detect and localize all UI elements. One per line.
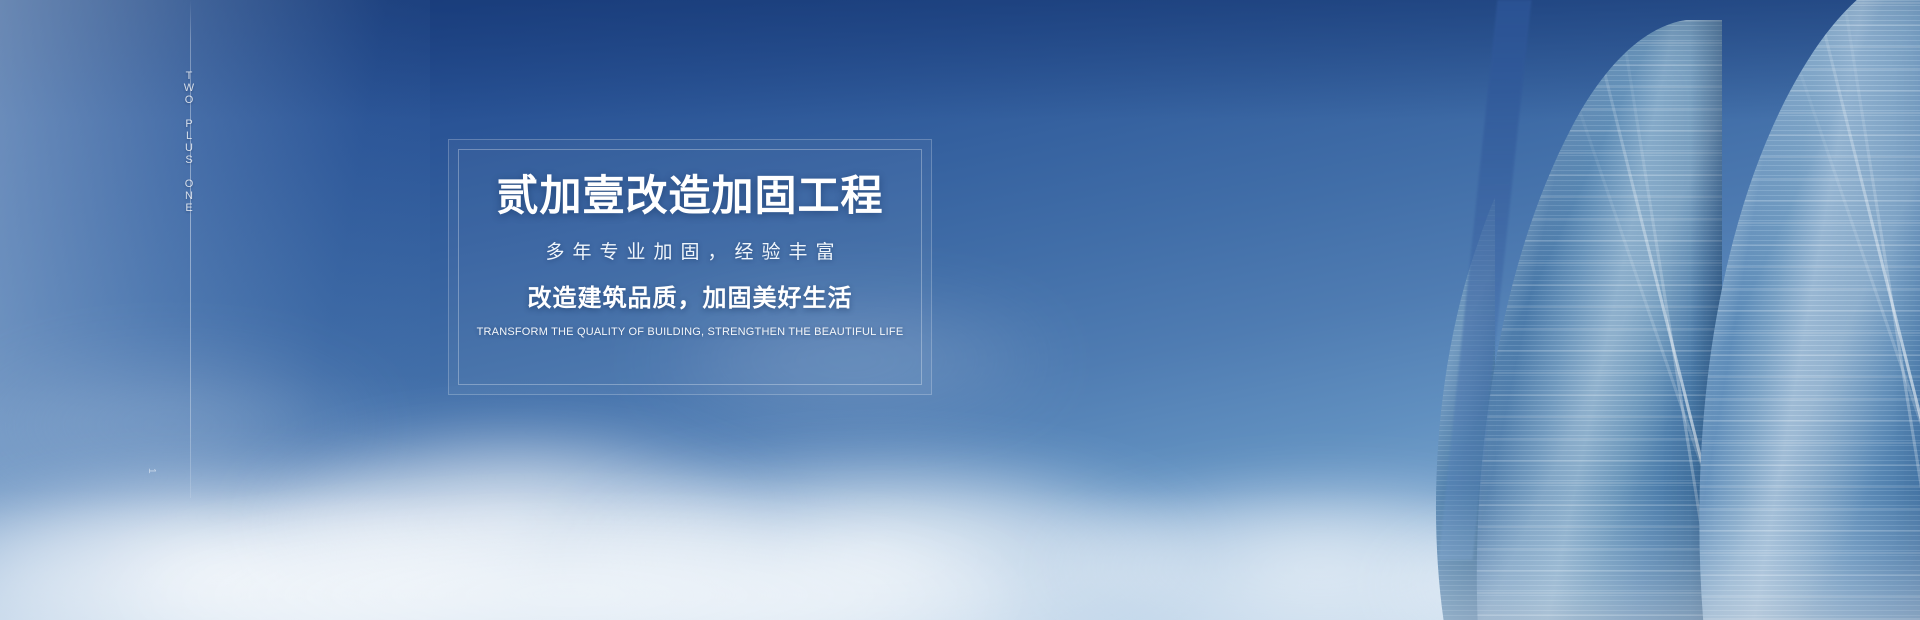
page-subtitle: 多年专业加固，经验丰富 xyxy=(537,243,842,262)
hero-banner: TWO PLUS ONE 1 贰加壹改造加固工程 多年专业加固，经验丰富 改造建… xyxy=(0,0,1920,620)
page-title: 贰加壹改造加固工程 xyxy=(496,175,883,217)
banner-copy-block: 贰加壹改造加固工程 多年专业加固，经验丰富 改造建筑品质，加固美好生活 TRAN… xyxy=(448,139,932,395)
vertical-brand-label: TWO PLUS ONE xyxy=(183,70,199,214)
page-slogan-english: TRANSFORM THE QUALITY OF BUILDING, STREN… xyxy=(477,327,904,338)
skyscrapers-photo xyxy=(1160,0,1920,620)
page-slogan: 改造建筑品质，加固美好生活 xyxy=(528,287,853,311)
vertical-page-mark: 1 xyxy=(146,468,157,475)
sky-left-haze xyxy=(0,0,430,620)
